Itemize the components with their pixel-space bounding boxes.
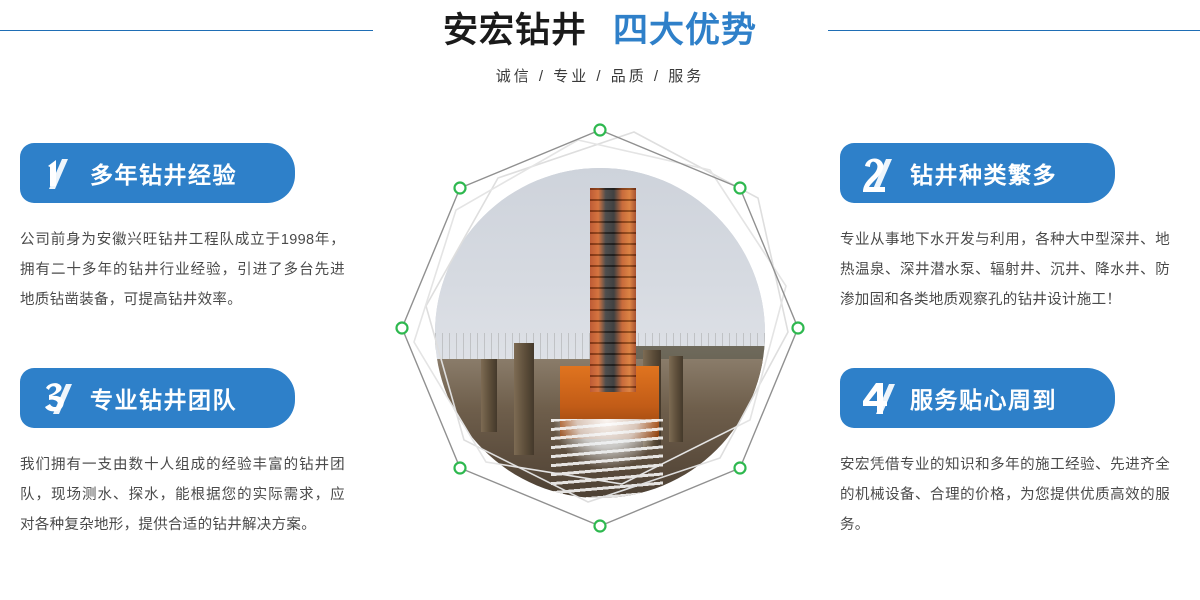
octagon-node [595, 521, 606, 532]
feature-card-2: 钻井种类繁多 专业从事地下水开发与利用，各种大中型深井、地热温泉、深井潜水泵、辐… [840, 143, 1185, 315]
number-3-icon [38, 375, 84, 421]
page-header: 安宏钻井四大优势 诚信 / 专业 / 品质 / 服务 [0, 0, 1200, 112]
octagon-node [595, 125, 606, 136]
photo-drill-leg [669, 356, 683, 442]
page-subtitle: 诚信 / 专业 / 品质 / 服务 [0, 65, 1200, 89]
feature-card-1-body: 公司前身为安徽兴旺钻井工程队成立于1998年，拥有二十多年的钻井行业经验，引进了… [20, 225, 345, 315]
feature-card-1: 多年钻井经验 公司前身为安徽兴旺钻井工程队成立于1998年，拥有二十多年的钻井行… [20, 143, 365, 315]
feature-card-3-title: 专业钻井团队 [90, 381, 237, 415]
page-title: 安宏钻井四大优势 [0, 8, 1200, 54]
drill-rig-photo [435, 168, 765, 498]
feature-card-4-title: 服务贴心周到 [910, 381, 1057, 415]
feature-card-2-header: 钻井种类繁多 [840, 143, 1115, 203]
page-title-accent: 四大优势 [613, 11, 757, 50]
photo-drill-leg [514, 343, 534, 455]
photo-water-gush [551, 419, 663, 498]
center-graphic [382, 110, 818, 590]
page-root: 安宏钻井四大优势 诚信 / 专业 / 品质 / 服务 多年钻井经验 公司前身为安… [0, 0, 1200, 600]
feature-card-2-body: 专业从事地下水开发与利用，各种大中型深井、地热温泉、深井潜水泵、辐射井、沉井、降… [840, 225, 1170, 315]
number-2-icon [858, 150, 904, 196]
feature-card-1-title: 多年钻井经验 [90, 156, 237, 190]
feature-card-2-title: 钻井种类繁多 [910, 156, 1057, 190]
feature-card-4-header: 服务贴心周到 [840, 368, 1115, 428]
feature-card-3-body: 我们拥有一支由数十人组成的经验丰富的钻井团队，现场测水、探水，能根据您的实际需求… [20, 450, 345, 540]
photo-drill-leg [481, 359, 497, 432]
feature-card-4-body: 安宏凭借专业的知识和多年的施工经验、先进齐全的机械设备、合理的价格，为您提供优质… [840, 450, 1170, 540]
feature-card-3: 专业钻井团队 我们拥有一支由数十人组成的经验丰富的钻井团队，现场测水、探水，能根… [20, 368, 365, 540]
number-1-icon [38, 150, 84, 196]
page-title-main: 安宏钻井 [443, 11, 587, 50]
feature-card-4: 服务贴心周到 安宏凭借专业的知识和多年的施工经验、先进齐全的机械设备、合理的价格… [840, 368, 1185, 540]
number-4-icon [858, 375, 904, 421]
photo-rig-mast [590, 188, 636, 393]
octagon-node [793, 323, 804, 334]
octagon-node [397, 323, 408, 334]
feature-card-3-header: 专业钻井团队 [20, 368, 295, 428]
feature-card-1-header: 多年钻井经验 [20, 143, 295, 203]
